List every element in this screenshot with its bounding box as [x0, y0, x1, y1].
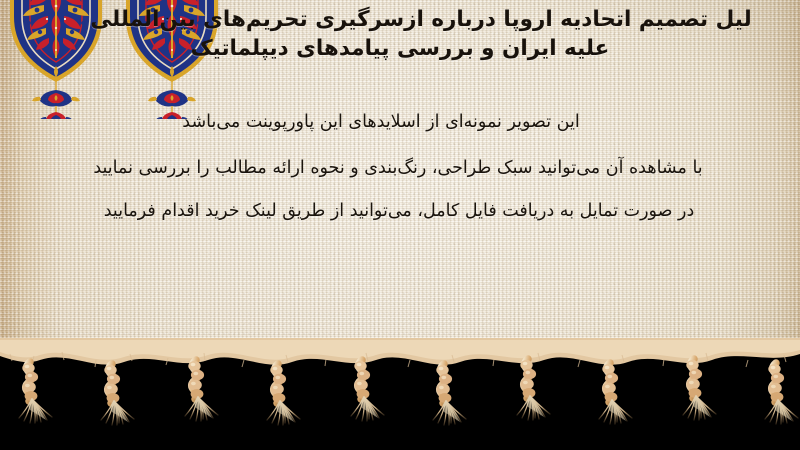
- fringe-tassel: [101, 364, 134, 425]
- slide-canvas: لیل تصمیم اتحادیه اروپا درباره ازسرگیری …: [0, 0, 800, 450]
- slide-body: این تصویر نمونه‌ای از اسلایدهای این پاور…: [0, 114, 800, 221]
- fringe-tassel: [599, 363, 632, 424]
- fringe-tassel: [185, 360, 218, 421]
- fringe-tassels-svg: [0, 338, 800, 450]
- body-line-1: این تصویر نمونه‌ای از اسلایدهای این پاور…: [0, 114, 800, 132]
- title-line-2: علیه ایران و بررسی پیامدهای دیپلماتیک: [0, 35, 800, 64]
- fringe-tassel: [19, 362, 52, 423]
- fringe-tassel: [683, 359, 716, 420]
- fringe-tassel: [765, 363, 798, 424]
- slide-title: لیل تصمیم اتحادیه اروپا درباره ازسرگیری …: [0, 6, 800, 63]
- fringe-tassel: [351, 360, 384, 421]
- body-line-2: با مشاهده آن می‌توانید سبک طراحی، رنگ‌بن…: [0, 160, 800, 178]
- body-line-3: در صورت تمایل به دریافت فایل کامل، می‌تو…: [0, 203, 800, 221]
- fringe-tassel: [433, 364, 466, 425]
- title-line-1: لیل تصمیم اتحادیه اروپا درباره ازسرگیری …: [0, 6, 800, 35]
- fringe-tassel: [517, 359, 550, 420]
- fringe-tassel-row: [19, 359, 798, 425]
- fringe-tassel: [267, 364, 300, 425]
- carpet-fringe: [0, 338, 800, 450]
